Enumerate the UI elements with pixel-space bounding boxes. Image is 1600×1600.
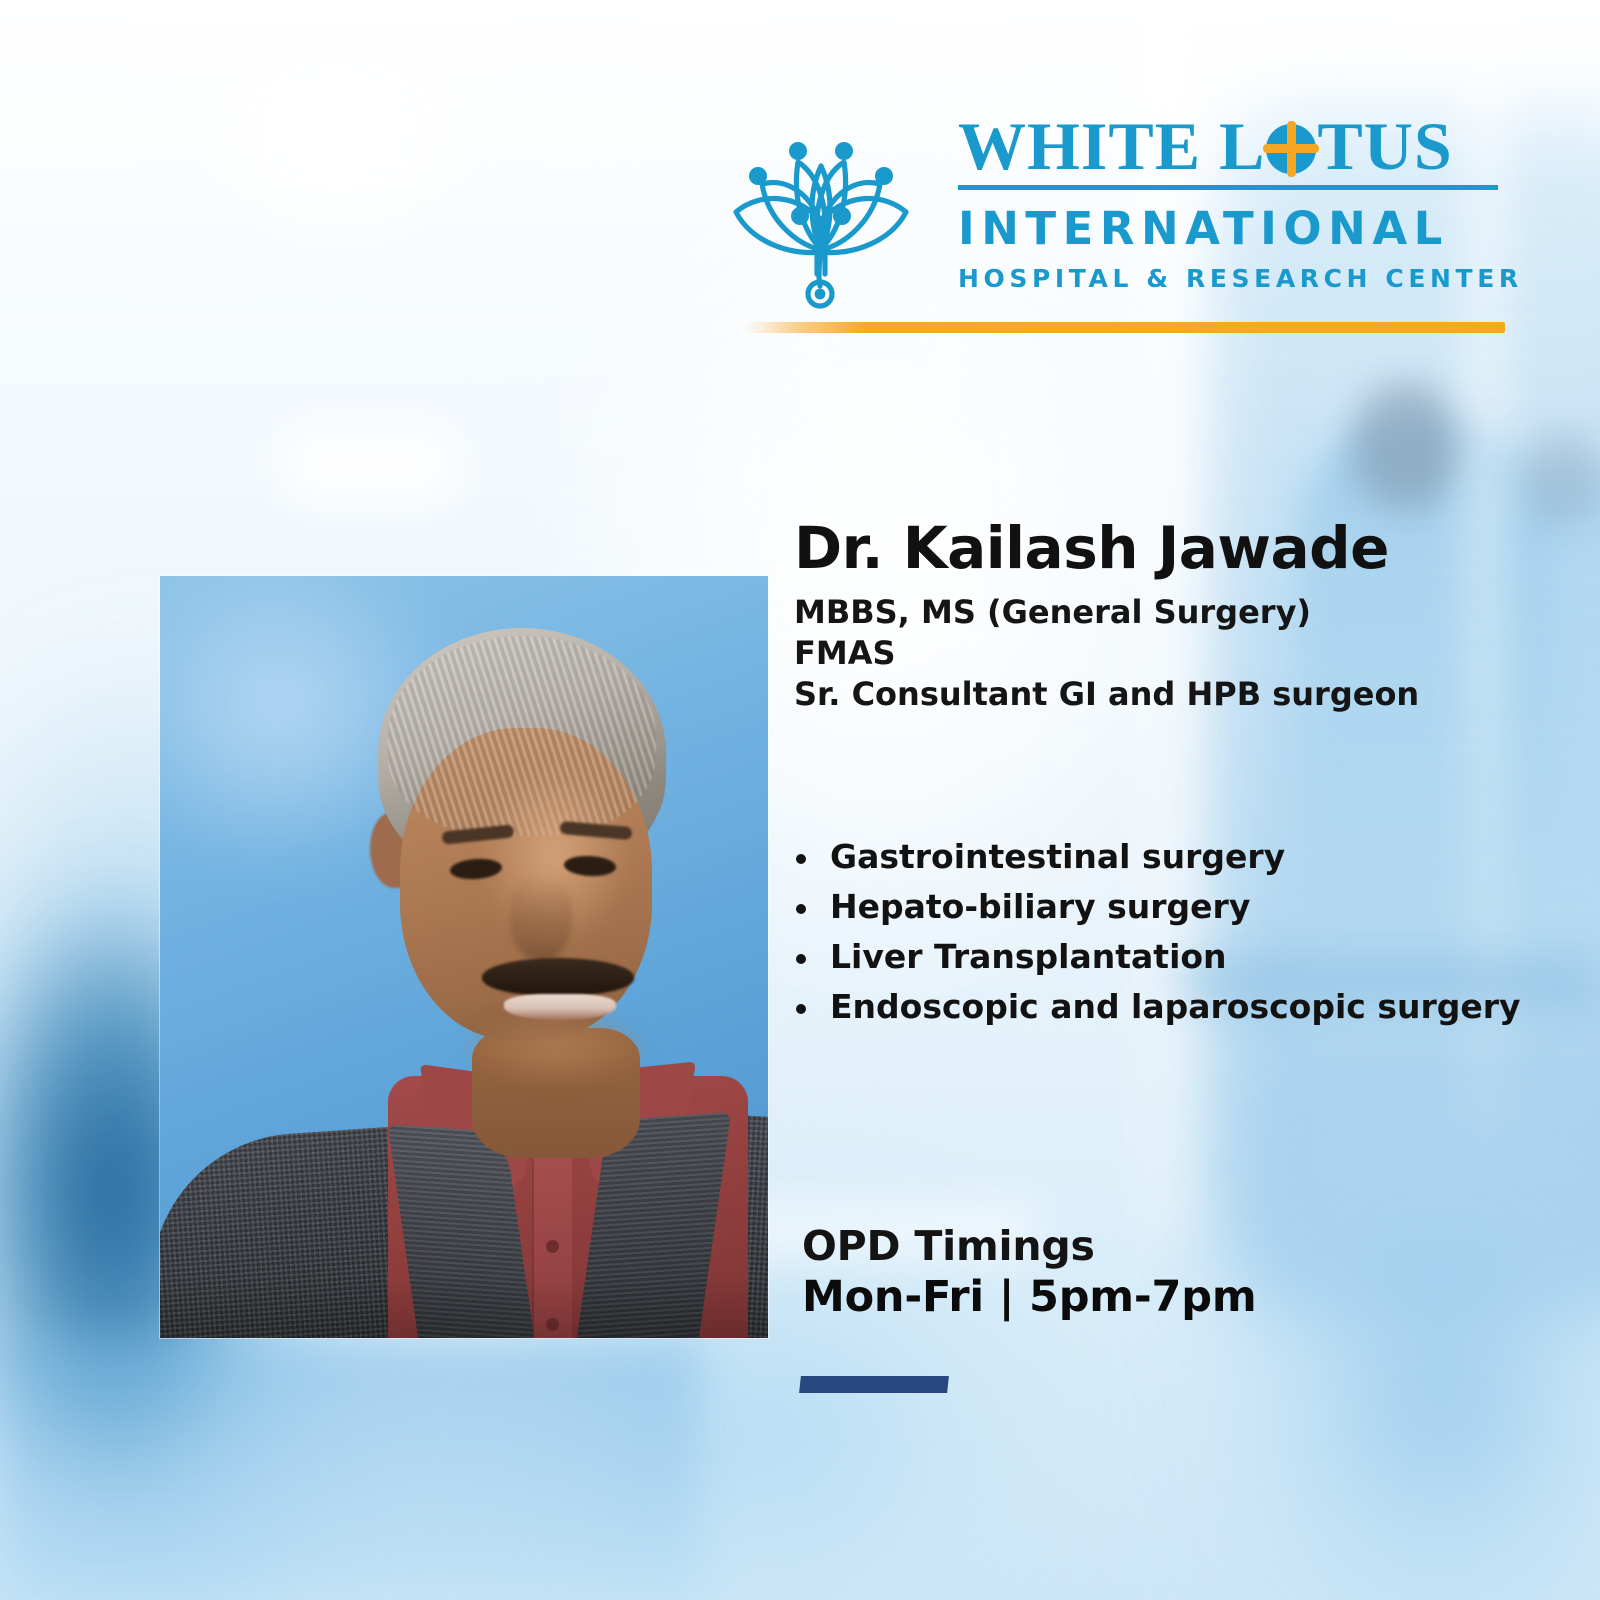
hospital-logo: WHITE L TUS INTERNATIONAL HOSPITAL & RES…: [716, 104, 1506, 344]
navy-accent-bar: [799, 1376, 949, 1393]
opd-hours: Mon-Fri | 5pm-7pm: [802, 1272, 1402, 1323]
doctor-credential: MBBS, MS (General Surgery): [794, 592, 1494, 633]
list-item: Gastrointestinal surgery: [794, 832, 1514, 882]
doctor-announcement-poster: WHITE L TUS INTERNATIONAL HOSPITAL & RES…: [0, 0, 1600, 1600]
doctor-portrait-photo: [160, 576, 768, 1338]
wordmark-part-1: WHITE L: [958, 114, 1265, 179]
lotus-stethoscope-icon: [716, 104, 926, 314]
specialty-label: Gastrointestinal surgery: [830, 837, 1285, 876]
brand-tagline: HOSPITAL & RESEARCH CENTER: [958, 264, 1506, 293]
specialty-label: Endoscopic and laparoscopic surgery: [830, 987, 1521, 1026]
doctor-credential: FMAS: [794, 633, 1494, 674]
doctor-info-block: Dr. Kailash Jawade MBBS, MS (General Sur…: [794, 518, 1494, 714]
lotus-cross-o-icon: [1266, 124, 1316, 174]
orange-divider-bar: [745, 322, 1505, 333]
bullet-icon: [796, 904, 806, 914]
opd-title: OPD Timings: [802, 1222, 1402, 1270]
list-item: Endoscopic and laparoscopic surgery: [794, 982, 1514, 1032]
bullet-icon: [796, 954, 806, 964]
specialty-label: Liver Transplantation: [830, 937, 1227, 976]
wordmark-divider-rule: [958, 185, 1498, 190]
specialties-list: Gastrointestinal surgery Hepato-biliary …: [794, 832, 1514, 1033]
list-item: Hepato-biliary surgery: [794, 882, 1514, 932]
doctor-credential: Sr. Consultant GI and HPB surgeon: [794, 674, 1494, 715]
logo-wordmark-group: WHITE L TUS INTERNATIONAL HOSPITAL & RES…: [958, 114, 1506, 293]
bullet-icon: [796, 854, 806, 864]
specialty-label: Hepato-biliary surgery: [830, 887, 1250, 926]
wordmark-part-2: TUS: [1317, 114, 1452, 179]
brand-wordmark: WHITE L TUS: [958, 114, 1506, 179]
doctor-name: Dr. Kailash Jawade: [794, 518, 1494, 578]
brand-line-international: INTERNATIONAL: [958, 202, 1506, 255]
list-item: Liver Transplantation: [794, 932, 1514, 982]
bullet-icon: [796, 1004, 806, 1014]
opd-timings-block: OPD Timings Mon-Fri | 5pm-7pm: [802, 1222, 1402, 1323]
